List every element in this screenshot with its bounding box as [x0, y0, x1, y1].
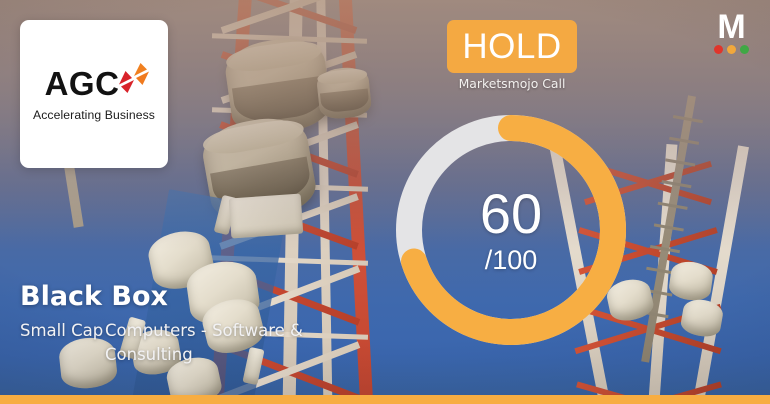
call-rating-badge[interactable]: HOLD	[447, 20, 577, 73]
agc-pinwheel-icon	[117, 61, 151, 95]
company-meta-row: Small Cap Computers - Software & Consult…	[20, 319, 420, 366]
market-cap-label: Small Cap	[20, 319, 105, 366]
dot-green	[740, 45, 749, 54]
brand-dots	[708, 45, 754, 54]
brand-letter-m: M	[708, 14, 754, 42]
company-name: Black Box	[20, 283, 420, 311]
company-info: Black Box Small Cap Computers - Software…	[20, 283, 420, 366]
score-gauge: 60 /100	[396, 115, 626, 345]
call-rating-label: HOLD	[462, 29, 561, 64]
agc-tagline: Accelerating Business	[29, 108, 159, 122]
sector-label: Computers - Software & Consulting	[105, 319, 310, 366]
dot-red	[714, 45, 723, 54]
marketsmojo-logo: M	[708, 14, 754, 54]
dot-amber	[727, 45, 736, 54]
company-logo-card: AGC Accelerating Business	[20, 20, 168, 168]
bottom-accent-bar	[0, 395, 770, 404]
call-source-label: Marketsmojo Call	[447, 76, 577, 91]
stock-summary-card: AGC Accelerating Business HOLD Marketsmo…	[0, 0, 770, 404]
